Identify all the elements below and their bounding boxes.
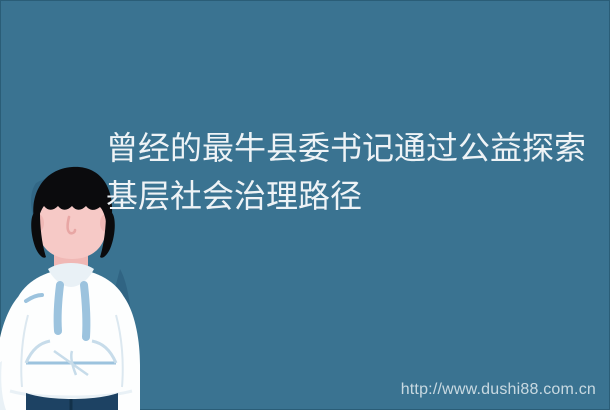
article-cover-image: 曾经的最牛县委书记通过公益探索基层社会治理路径 http://www.dushi… [0,0,610,410]
page-title: 曾经的最牛县委书记通过公益探索基层社会治理路径 [106,124,598,220]
watermark-url: http://www.dushi88.com.cn [401,380,596,400]
drawstring-left [58,285,60,331]
drawstring-right [84,285,86,337]
